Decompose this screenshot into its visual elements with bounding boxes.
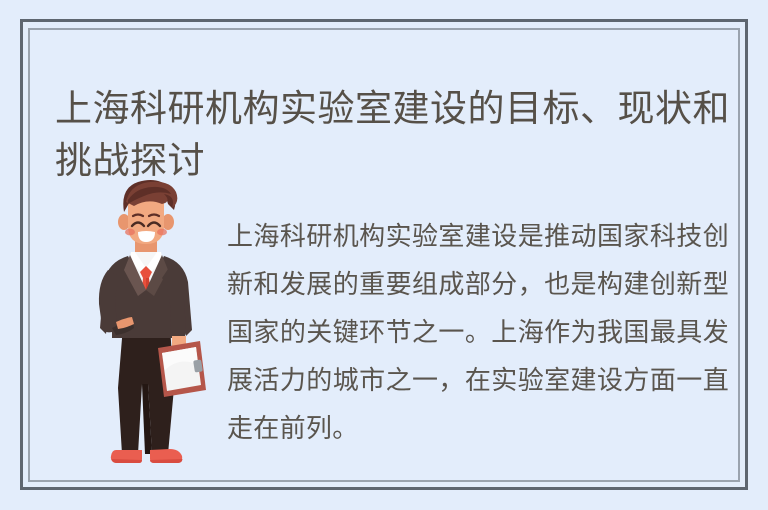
left-cheek: [125, 229, 135, 236]
article-card-inner-border: 上海科研机构实验室建设的目标、现状和挑战探讨: [28, 28, 740, 482]
article-card: 上海科研机构实验室建设的目标、现状和挑战探讨: [20, 19, 748, 490]
businessman-illustration: [82, 178, 212, 478]
clipboard: [158, 341, 206, 397]
right-cheek: [157, 229, 167, 236]
article-body: 上海科研机构实验室建设是推动国家科技创新和发展的重要组成部分，也是构建创新型国家…: [227, 212, 729, 452]
article-content: 上海科研机构实验室建设是推动国家科技创新和发展的重要组成部分，也是构建创新型国家…: [30, 178, 738, 480]
page-title: 上海科研机构实验室建设的目标、现状和挑战探讨: [55, 83, 731, 187]
businessman-figure: [82, 178, 212, 478]
